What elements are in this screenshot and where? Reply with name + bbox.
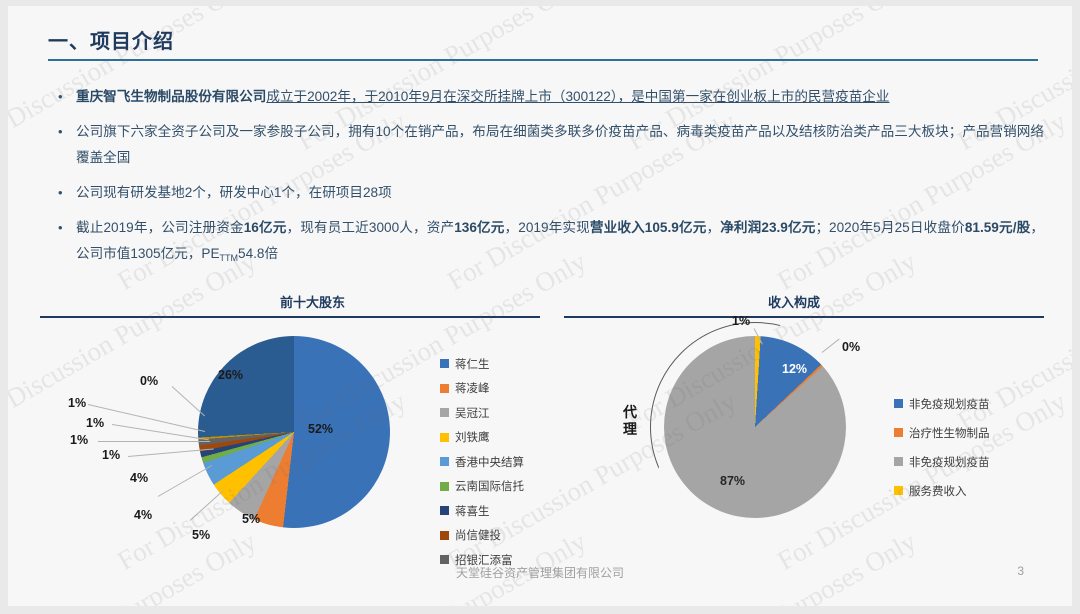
text-run: 营业收入105.9亿元 <box>590 220 707 235</box>
legend-swatch-icon <box>440 482 449 491</box>
legend-label: 非免疫规划疫苗 <box>909 396 990 412</box>
bullet-marker-icon: • <box>52 119 76 145</box>
legend-swatch-icon <box>440 433 449 442</box>
pie-slice-label: 1% <box>68 396 86 410</box>
pie-chart-shareholders <box>198 336 390 528</box>
text-run: 截止2019年，公司注册资金 <box>76 220 244 235</box>
pie-chart-revenue <box>664 336 846 518</box>
legend-item[interactable]: 尚信健投 <box>440 527 524 543</box>
legend-label: 尚信健投 <box>455 527 501 543</box>
chart-title-shareholders: 前十大股东 <box>40 292 540 316</box>
footer-page-number: 3 <box>1017 564 1024 578</box>
pie-slice-label: 0% <box>842 340 860 354</box>
slide-canvas: 一、项目介绍 •重庆智飞生物制品股份有限公司成立于2002年，于2010年9月在… <box>8 6 1072 606</box>
pie-slice-label: 1% <box>732 314 750 328</box>
legend-label: 蒋仁生 <box>455 356 490 372</box>
text-run: ，现有员工近3000人，资产 <box>286 220 454 235</box>
legend-label: 香港中央结算 <box>455 454 524 470</box>
legend-swatch-icon <box>440 555 449 564</box>
chart-legend-shareholders: 蒋仁生蒋凌峰吴冠江刘铁鹰香港中央结算云南国际信托蒋喜生尚信健投招银汇添富 <box>440 356 524 577</box>
leader-line <box>172 386 205 416</box>
leader-line <box>190 490 223 520</box>
legend-swatch-icon <box>894 428 903 437</box>
bullet-text: 截止2019年，公司注册资金16亿元，现有员工近3000人，资产136亿元，20… <box>76 215 1044 268</box>
pie-slice-label: 1% <box>86 416 104 430</box>
legend-label: 服务费收入 <box>909 483 967 499</box>
legend-label: 蒋凌峰 <box>455 380 490 396</box>
leader-line <box>822 338 840 352</box>
pie-slice-label: 1% <box>70 433 88 447</box>
pie-slice-label: 52% <box>308 422 333 436</box>
bullet-text: 重庆智飞生物制品股份有限公司成立于2002年，于2010年9月在深交所挂牌上市（… <box>76 84 1044 110</box>
pie-slice-label: 12% <box>782 362 807 376</box>
legend-label: 刘铁鹰 <box>455 429 490 445</box>
bullet-text: 公司现有研发基地2个，研发中心1个，在研项目28项 <box>76 180 1044 206</box>
legend-item[interactable]: 非免疫规划疫苗 <box>894 396 990 412</box>
legend-swatch-icon <box>894 457 903 466</box>
text-run: 成立于2002年，于2010年9月在深交所挂牌上市（300122），是中国第一家… <box>266 89 889 104</box>
text-run: ；2020年5月25日收盘价 <box>815 220 964 235</box>
legend-label: 非免疫规划疫苗 <box>909 454 990 470</box>
leader-line <box>88 404 205 432</box>
chart-body-revenue: 代理 1% 12% 0% 87% 非免疫规划疫苗治疗性生物制品非免疫规划疫苗服务… <box>564 318 1044 543</box>
chart-body-shareholders: 52% 26% 0% 1% 1% 1% 1% 4% 4% 5% 5% 蒋仁生蒋凌… <box>40 318 540 543</box>
leader-line <box>98 441 210 442</box>
footer-company-name: 天堂硅谷资产管理集团有限公司 <box>8 564 1072 581</box>
legend-swatch-icon <box>894 399 903 408</box>
bullet-item: •公司现有研发基地2个，研发中心1个，在研项目28项 <box>52 180 1044 206</box>
legend-item[interactable]: 蒋凌峰 <box>440 380 524 396</box>
pie-slice-label: 1% <box>102 448 120 462</box>
legend-label: 吴冠江 <box>455 405 490 421</box>
legend-item[interactable]: 云南国际信托 <box>440 478 524 494</box>
legend-swatch-icon <box>440 359 449 368</box>
bullet-item: •公司旗下六家全资子公司及一家参股子公司，拥有10个在销产品，布局在细菌类多联多… <box>52 119 1044 171</box>
agency-annotation-label: 代理 <box>622 404 638 438</box>
text-run: 重庆智飞生物制品股份有限公司 <box>76 89 266 104</box>
text-run: 54.8倍 <box>238 246 278 261</box>
legend-swatch-icon <box>440 457 449 466</box>
legend-item[interactable]: 吴冠江 <box>440 405 524 421</box>
bullet-item: •截止2019年，公司注册资金16亿元，现有员工近3000人，资产136亿元，2… <box>52 215 1044 268</box>
text-run: 16亿元 <box>244 220 287 235</box>
legend-item[interactable]: 蒋仁生 <box>440 356 524 372</box>
leader-line <box>158 465 212 497</box>
pie-slice-label: 5% <box>192 528 210 542</box>
pie-slice-label: 0% <box>140 374 158 388</box>
chart-panel-shareholders: 前十大股东 52% 26% 0% 1% 1% 1% 1% 4% 4% 5% 5%… <box>40 292 540 542</box>
text-run: 81.59元/股 <box>965 220 1031 235</box>
legend-label: 蒋喜生 <box>455 503 490 519</box>
legend-swatch-icon <box>440 384 449 393</box>
bullet-list: •重庆智飞生物制品股份有限公司成立于2002年，于2010年9月在深交所挂牌上市… <box>52 84 1044 277</box>
legend-label: 云南国际信托 <box>455 478 524 494</box>
text-run: ，2019年实现 <box>505 220 590 235</box>
text-run: 公司旗下六家全资子公司及一家参股子公司，拥有10个在销产品，布局在细菌类多联多价… <box>76 124 1044 165</box>
pie-slice-label: 4% <box>130 471 148 485</box>
chart-panel-revenue: 收入构成 代理 1% 12% 0% 87% 非免疫规划疫苗治疗性生物制品非免疫规… <box>564 292 1044 542</box>
text-run: 公司现有研发基地2个，研发中心1个，在研项目28项 <box>76 185 392 200</box>
legend-swatch-icon <box>440 408 449 417</box>
legend-item[interactable]: 蒋喜生 <box>440 503 524 519</box>
bullet-marker-icon: • <box>52 180 76 206</box>
chart-legend-revenue: 非免疫规划疫苗治疗性生物制品非免疫规划疫苗服务费收入 <box>894 396 990 512</box>
legend-swatch-icon <box>440 531 449 540</box>
title-underline <box>48 59 1038 61</box>
legend-item[interactable]: 治疗性生物制品 <box>894 425 990 441</box>
legend-swatch-icon <box>440 506 449 515</box>
legend-label: 治疗性生物制品 <box>909 425 990 441</box>
text-run: 净利润23.9亿元 <box>720 220 815 235</box>
bullet-item: •重庆智飞生物制品股份有限公司成立于2002年，于2010年9月在深交所挂牌上市… <box>52 84 1044 110</box>
text-run: TTM <box>220 253 239 263</box>
pie-slice-label: 5% <box>242 512 260 526</box>
text-run: ， <box>706 220 720 235</box>
chart-title-revenue: 收入构成 <box>564 292 1044 316</box>
slide-header: 一、项目介绍 <box>48 28 1038 61</box>
pie-slice-label: 4% <box>134 508 152 522</box>
legend-swatch-icon <box>894 486 903 495</box>
pie-slice-label: 26% <box>218 368 243 382</box>
page-title: 一、项目介绍 <box>48 28 1038 56</box>
bullet-marker-icon: • <box>52 215 76 241</box>
leader-line <box>112 424 209 440</box>
legend-item[interactable]: 服务费收入 <box>894 483 990 499</box>
legend-item[interactable]: 非免疫规划疫苗 <box>894 454 990 470</box>
bullet-marker-icon: • <box>52 84 76 110</box>
pie-slice-label: 87% <box>720 474 745 488</box>
bullet-text: 公司旗下六家全资子公司及一家参股子公司，拥有10个在销产品，布局在细菌类多联多价… <box>76 119 1044 171</box>
legend-item[interactable]: 刘铁鹰 <box>440 429 524 445</box>
text-run: 136亿元 <box>454 220 504 235</box>
legend-item[interactable]: 香港中央结算 <box>440 454 524 470</box>
